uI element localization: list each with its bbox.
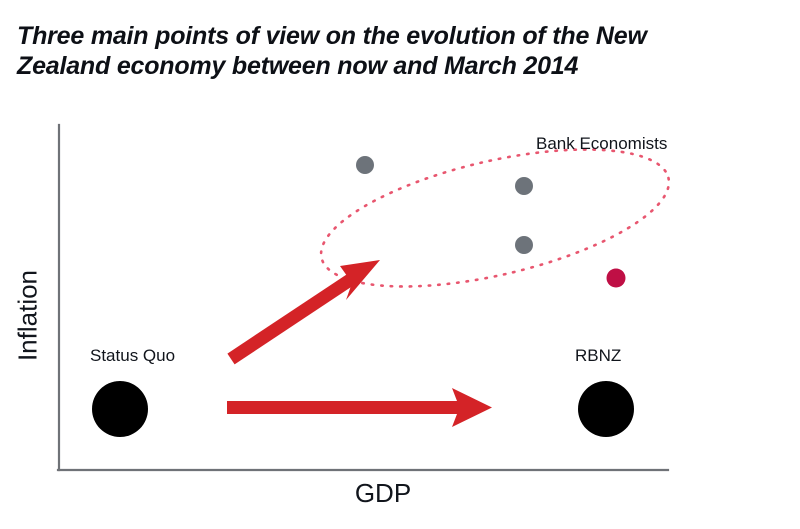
diagonal-growth-arrow: [231, 260, 380, 359]
x-axis-label-text: GDP: [355, 478, 411, 509]
chart-area: Bank Economists Status Quo RBNZ GDP Infl…: [0, 0, 800, 529]
data-label-status-quo: Status Quo: [90, 346, 175, 366]
data-point-bank-economist-outlier: [607, 269, 626, 288]
chart-canvas: [0, 0, 800, 529]
annotation-label-bank-economists: Bank Economists: [536, 134, 667, 154]
horizontal-growth-arrow: [227, 388, 492, 427]
data-point-status-quo: [92, 381, 148, 437]
x-axis-label: GDP: [0, 478, 800, 509]
data-point-bank-economist-1: [356, 156, 374, 174]
data-point-bank-economist-2: [515, 177, 533, 195]
y-axis-label: Inflation: [13, 251, 44, 381]
data-point-bank-economist-3: [515, 236, 533, 254]
data-point-rbnz: [578, 381, 634, 437]
figure-root: Three main points of view on the evoluti…: [0, 0, 800, 529]
data-label-rbnz: RBNZ: [575, 346, 621, 366]
